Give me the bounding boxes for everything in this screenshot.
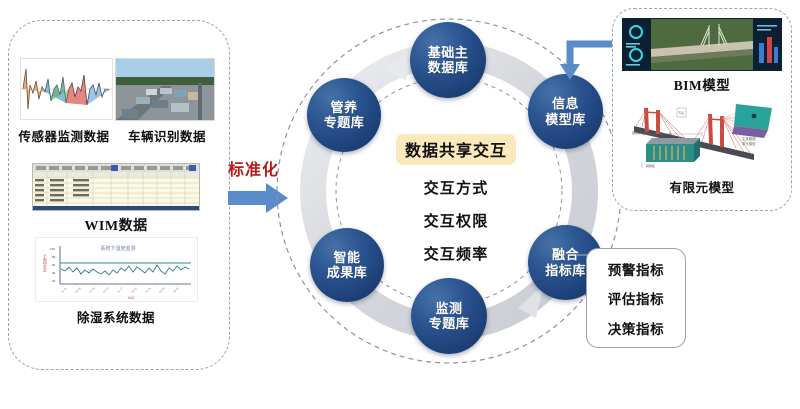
node-label-line1: 信息 (552, 96, 579, 111)
svg-text:100: 100 (50, 247, 55, 251)
standardization-label: 标准化 (228, 156, 279, 180)
svg-text:相对湿度%: 相对湿度% (42, 254, 47, 272)
svg-text:节点: 节点 (678, 110, 684, 115)
center-line-method: 交互方式 (382, 177, 530, 198)
svg-text:横隔板: 横隔板 (646, 163, 655, 168)
svg-text:单元模型: 单元模型 (742, 141, 756, 146)
node-label-line1: 管养 (330, 100, 357, 115)
svg-text:时间: 时间 (128, 295, 134, 300)
sensor-data-caption: 传感器监测数据 (8, 126, 120, 145)
data-sharing-center-block: 数据共享交互 交互方式 交互权限 交互频率 (382, 134, 530, 264)
wim-data-caption: WIM数据 (30, 215, 202, 235)
center-line-authority: 交互权限 (382, 210, 530, 231)
svg-text:40: 40 (52, 271, 56, 275)
waveform-chart-image (20, 58, 113, 120)
svg-text:80: 80 (52, 255, 56, 259)
node-label-line1: 监测 (435, 301, 462, 316)
svg-text:钢箱梁顶板: 钢箱梁顶板 (632, 130, 647, 135)
node-label-line2: 指标库 (545, 263, 586, 278)
svg-text:20: 20 (52, 279, 56, 283)
line-chart-image: 系统下湿度监测 10080 604020 相对湿度% 01-01 01-05 0… (35, 237, 198, 302)
right-arrow-icon (228, 183, 290, 213)
center-title: 数据共享交互 (396, 134, 516, 165)
node-label-line1: 智能 (333, 250, 360, 265)
node-label-line2: 数据库 (428, 60, 469, 75)
indicator-list-box: 预警指标 评估指标 决策指标 (586, 248, 686, 348)
bim-model-caption: BIM模型 (622, 74, 782, 94)
indicator-decision: 决策指标 (608, 318, 664, 338)
bridge-bim-dashboard-image (622, 18, 782, 71)
node-basic-master-database[interactable]: 基础主 数据库 (410, 22, 486, 98)
node-label-line2: 专题库 (324, 115, 365, 130)
diagram-canvas: 系统下湿度监测 10080 604020 相对湿度% 01-01 01-05 0… (0, 0, 800, 409)
svg-text:60: 60 (52, 263, 56, 267)
node-label-line2: 专题库 (429, 316, 470, 331)
data-table-screenshot-image (32, 163, 200, 211)
node-maintenance-topic-database[interactable]: 管养 专题库 (307, 78, 381, 152)
indicator-assess: 评估指标 (608, 288, 664, 308)
node-label-line2: 模型库 (545, 112, 586, 127)
traffic-photo-image (115, 58, 215, 121)
dehumid-data-caption: 除湿系统数据 (30, 307, 202, 326)
svg-text:主梁截面: 主梁截面 (742, 136, 756, 141)
node-label-line2: 成果库 (327, 265, 368, 280)
node-label-line1: 基础主 (428, 45, 469, 60)
finite-element-model-caption: 有限元模型 (622, 177, 782, 196)
node-label-line1: 融合 (552, 247, 579, 262)
node-monitoring-topic-database[interactable]: 监测 专题库 (411, 278, 487, 354)
node-smart-results-database[interactable]: 智能 成果库 (310, 228, 384, 302)
vehicle-data-caption: 车辆识别数据 (112, 126, 222, 145)
center-line-frequency: 交互频率 (382, 243, 530, 264)
finite-element-model-image: 主梁截面 单元模型 钢箱梁顶板 横隔板 C (622, 92, 784, 172)
indicator-warning: 预警指标 (608, 259, 664, 279)
svg-text:系统下湿度监测: 系统下湿度监测 (100, 245, 135, 252)
